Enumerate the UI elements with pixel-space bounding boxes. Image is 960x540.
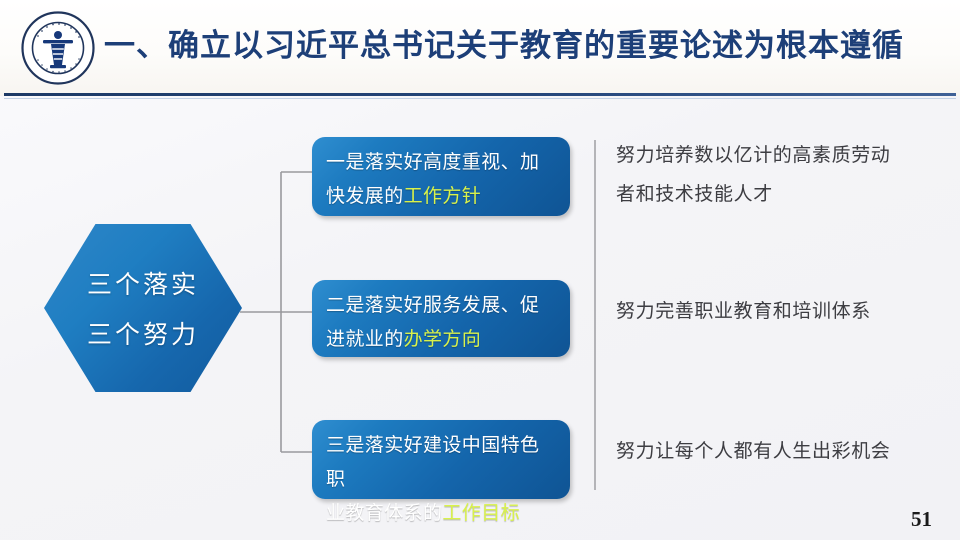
- page-number: 51: [911, 507, 932, 532]
- statement-box-2[interactable]: 二是落实好服务发展、促 进就业的办学方向: [312, 280, 570, 357]
- outcome-text-2: 努力完善职业教育和培训体系: [616, 292, 946, 331]
- statement-box-1-highlight: 工作方针: [404, 186, 482, 207]
- page-title: 一、确立以习近平总书记关于教育的重要论述为根本遵循: [104, 22, 944, 70]
- header-divider-primary: [4, 93, 956, 96]
- outcome-text-1: 努力培养数以亿计的高素质劳动 者和技术技能人才: [616, 136, 946, 214]
- institute-emblem-icon: [20, 10, 96, 86]
- statement-box-1-line-2-prefix: 快发展的: [326, 186, 404, 207]
- statement-box-1-line-1: 一是落实好高度重视、加: [326, 152, 539, 173]
- statement-box-3-line-1: 三是落实好建设中国特色职: [326, 435, 539, 490]
- statement-box-2-highlight: 办学方向: [404, 329, 482, 350]
- hexagon-node: 三个落实 三个努力: [44, 224, 242, 392]
- header-divider-secondary: [4, 98, 956, 99]
- statement-box-3[interactable]: 三是落实好建设中国特色职 业教育体系的工作目标: [312, 420, 570, 499]
- outcome-text-2-line-1: 努力完善职业教育和培训体系: [616, 292, 946, 331]
- outcome-text-1-line-2: 者和技术技能人才: [616, 175, 946, 214]
- outcome-text-3: 努力让每个人都有人生出彩机会: [616, 432, 946, 471]
- statement-box-2-line-1: 二是落实好服务发展、促: [326, 295, 539, 316]
- statement-box-3-highlight: 工作目标: [442, 503, 520, 524]
- hexagon-line-2: 三个努力: [87, 315, 199, 351]
- outcome-text-3-line-1: 努力让每个人都有人生出彩机会: [616, 432, 946, 471]
- statement-box-3-line-2-prefix: 业教育体系的: [326, 503, 442, 524]
- statement-box-2-line-2-prefix: 进就业的: [326, 329, 404, 350]
- hexagon-label: 三个落实 三个努力: [44, 224, 242, 392]
- outcome-text-1-line-1: 努力培养数以亿计的高素质劳动: [616, 136, 946, 175]
- vertical-divider: [594, 140, 596, 490]
- hexagon-line-1: 三个落实: [87, 265, 199, 301]
- presentation-slide: 一、确立以习近平总书记关于教育的重要论述为根本遵循 三个落实 三个努力 一是落实…: [0, 0, 960, 540]
- statement-box-1[interactable]: 一是落实好高度重视、加 快发展的工作方针: [312, 137, 570, 216]
